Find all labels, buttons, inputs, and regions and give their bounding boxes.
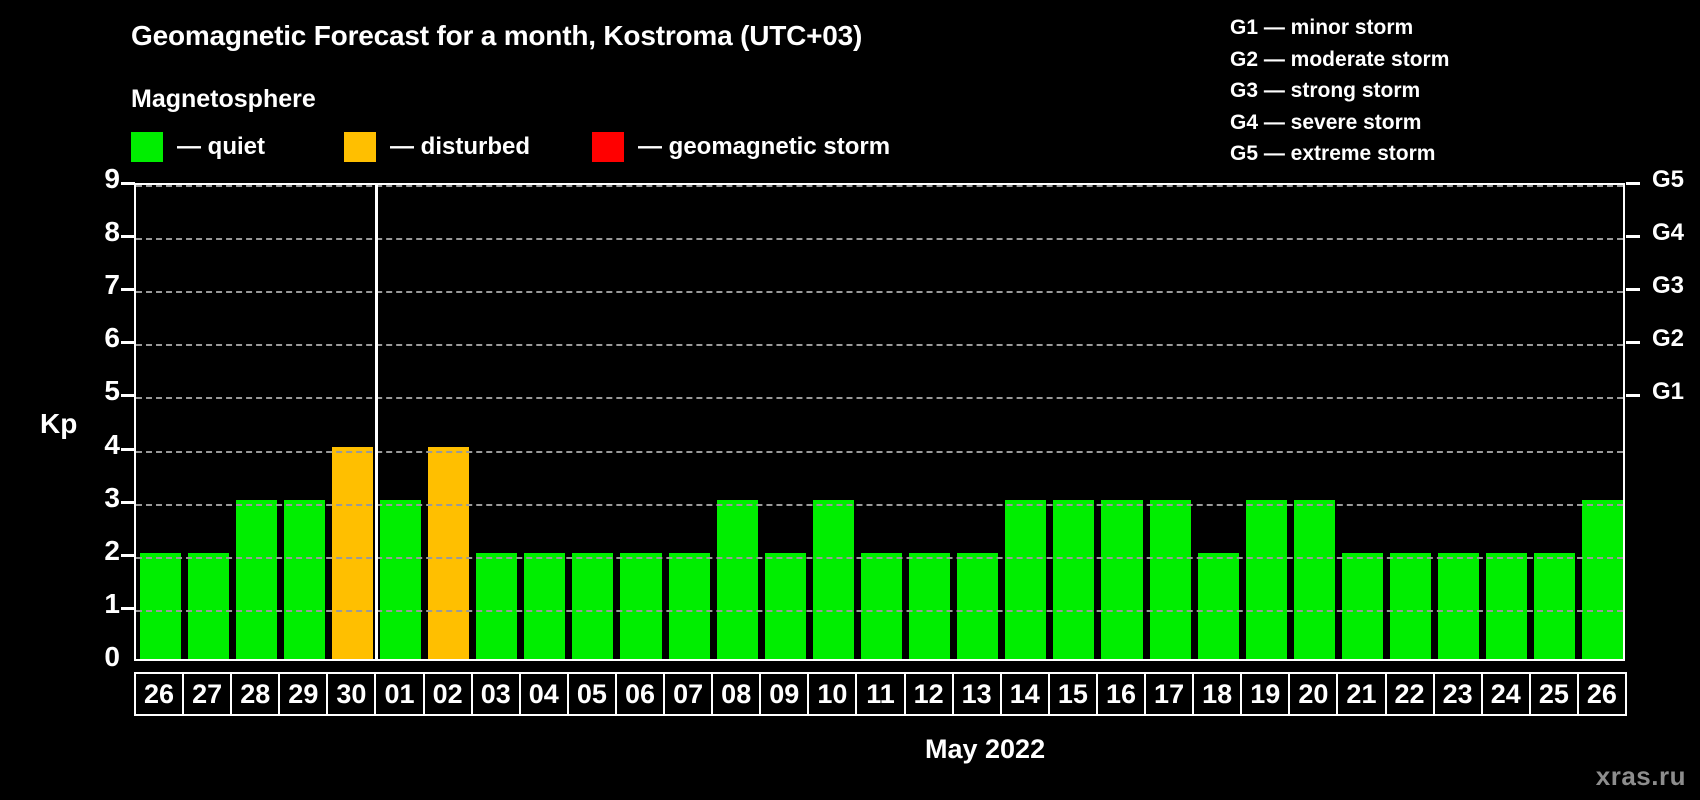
x-axis-day-25: 25 bbox=[1529, 672, 1579, 716]
bar-day-18 bbox=[1198, 553, 1239, 659]
bar-series bbox=[136, 185, 1623, 659]
y-tick-mark-1 bbox=[121, 607, 135, 610]
y-tick-mark-3 bbox=[121, 501, 135, 504]
bar-day-23 bbox=[1438, 553, 1479, 659]
y-tick-mark-2 bbox=[121, 554, 135, 557]
g-tick-mark-G2 bbox=[1626, 341, 1640, 344]
bar-day-07 bbox=[669, 553, 710, 659]
g-scale-row-2: G2 — moderate storm bbox=[1230, 44, 1449, 76]
x-axis-day-17: 17 bbox=[1144, 672, 1194, 716]
bar-day-15 bbox=[1053, 500, 1094, 659]
bar-day-12 bbox=[909, 553, 950, 659]
y-tick-mark-9 bbox=[121, 182, 135, 185]
bar-day-21 bbox=[1342, 553, 1383, 659]
gridline-kp-1 bbox=[136, 610, 1623, 612]
y-tick-label-0: 0 bbox=[80, 641, 120, 673]
bar-day-30 bbox=[332, 447, 373, 659]
g-scale-row-1: G1 — minor storm bbox=[1230, 12, 1449, 44]
x-axis-title: May 2022 bbox=[925, 734, 1045, 765]
legend-label: — quiet bbox=[177, 133, 265, 161]
bar-day-02 bbox=[428, 447, 469, 659]
x-axis-day-23: 23 bbox=[1433, 672, 1483, 716]
x-axis-day-03: 03 bbox=[471, 672, 521, 716]
x-axis-day-01: 01 bbox=[374, 672, 424, 716]
bar-day-24 bbox=[1486, 553, 1527, 659]
bar-day-04 bbox=[524, 553, 565, 659]
x-axis-day-04: 04 bbox=[519, 672, 569, 716]
legend-label: — geomagnetic storm bbox=[638, 133, 890, 161]
x-axis-day-28: 28 bbox=[230, 672, 280, 716]
y-tick-label-5: 5 bbox=[80, 375, 120, 407]
g-tick-label-G3: G3 bbox=[1652, 272, 1684, 300]
x-axis-day-21: 21 bbox=[1336, 672, 1386, 716]
gridline-kp-2 bbox=[136, 557, 1623, 559]
bar-day-13 bbox=[957, 553, 998, 659]
x-axis-day-29: 29 bbox=[278, 672, 328, 716]
plot-area bbox=[134, 183, 1625, 661]
bar-day-10 bbox=[813, 500, 854, 659]
g-scale-row-4: G4 — severe storm bbox=[1230, 107, 1449, 139]
gridline-kp-9 bbox=[136, 185, 1623, 187]
y-tick-label-3: 3 bbox=[80, 482, 120, 514]
x-axis-day-26: 26 bbox=[1577, 672, 1627, 716]
x-axis-day-11: 11 bbox=[855, 672, 905, 716]
bar-day-20 bbox=[1294, 500, 1335, 659]
bar-day-08 bbox=[717, 500, 758, 659]
gridline-kp-3 bbox=[136, 504, 1623, 506]
x-axis-day-02: 02 bbox=[423, 672, 473, 716]
legend-item-geomagnetic-storm: — geomagnetic storm bbox=[592, 132, 890, 162]
x-axis-day-30: 30 bbox=[326, 672, 376, 716]
bar-day-03 bbox=[476, 553, 517, 659]
page-title: Geomagnetic Forecast for a month, Kostro… bbox=[131, 20, 862, 52]
legend-item-disturbed: — disturbed bbox=[344, 132, 530, 162]
bar-day-17 bbox=[1150, 500, 1191, 659]
y-tick-label-4: 4 bbox=[80, 429, 120, 461]
g-tick-label-G4: G4 bbox=[1652, 219, 1684, 247]
x-axis-day-13: 13 bbox=[952, 672, 1002, 716]
g-scale-row-5: G5 — extreme storm bbox=[1230, 138, 1449, 170]
g-tick-label-G1: G1 bbox=[1652, 378, 1684, 406]
y-tick-mark-5 bbox=[121, 394, 135, 397]
x-axis-day-15: 15 bbox=[1048, 672, 1098, 716]
gridline-kp-8 bbox=[136, 238, 1623, 240]
bar-day-01 bbox=[380, 500, 421, 659]
bar-day-09 bbox=[765, 553, 806, 659]
g-tick-label-G2: G2 bbox=[1652, 325, 1684, 353]
x-axis-day-20: 20 bbox=[1288, 672, 1338, 716]
storm-swatch bbox=[592, 132, 624, 162]
x-axis-day-24: 24 bbox=[1481, 672, 1531, 716]
bar-day-06 bbox=[620, 553, 661, 659]
y-tick-label-1: 1 bbox=[80, 588, 120, 620]
x-axis-day-10: 10 bbox=[807, 672, 857, 716]
x-axis-day-09: 09 bbox=[759, 672, 809, 716]
x-axis-day-22: 22 bbox=[1385, 672, 1435, 716]
month-divider-line bbox=[375, 183, 378, 661]
chart-page: Geomagnetic Forecast for a month, Kostro… bbox=[0, 0, 1700, 800]
g-tick-mark-G3 bbox=[1626, 288, 1640, 291]
g-scale-legend: G1 — minor stormG2 — moderate stormG3 — … bbox=[1230, 12, 1449, 170]
legend-label: — disturbed bbox=[390, 133, 530, 161]
g-tick-label-G5: G5 bbox=[1652, 166, 1684, 194]
bar-day-27 bbox=[188, 553, 229, 659]
bar-day-26 bbox=[1582, 500, 1623, 659]
x-axis-day-27: 27 bbox=[182, 672, 232, 716]
g-tick-mark-G1 bbox=[1626, 394, 1640, 397]
g-tick-mark-G4 bbox=[1626, 235, 1640, 238]
y-tick-mark-6 bbox=[121, 341, 135, 344]
x-axis-day-26: 26 bbox=[134, 672, 184, 716]
disturbed-swatch bbox=[344, 132, 376, 162]
x-axis-day-12: 12 bbox=[904, 672, 954, 716]
x-axis-day-19: 19 bbox=[1240, 672, 1290, 716]
bar-day-19 bbox=[1246, 500, 1287, 659]
x-axis-day-06: 06 bbox=[615, 672, 665, 716]
x-axis-day-08: 08 bbox=[711, 672, 761, 716]
y-tick-mark-8 bbox=[121, 235, 135, 238]
watermark: xras.ru bbox=[1596, 761, 1686, 792]
gridline-kp-7 bbox=[136, 291, 1623, 293]
x-axis-day-05: 05 bbox=[567, 672, 617, 716]
y-tick-label-7: 7 bbox=[80, 269, 120, 301]
chart-subtitle: Magnetosphere bbox=[131, 85, 316, 114]
bar-day-28 bbox=[236, 500, 277, 659]
x-axis-day-16: 16 bbox=[1096, 672, 1146, 716]
bar-day-16 bbox=[1101, 500, 1142, 659]
bar-day-25 bbox=[1534, 553, 1575, 659]
y-axis-title: Kp bbox=[40, 408, 77, 440]
y-tick-label-8: 8 bbox=[80, 216, 120, 248]
g-tick-mark-G5 bbox=[1626, 182, 1640, 185]
gridline-kp-4 bbox=[136, 451, 1623, 453]
quiet-swatch bbox=[131, 132, 163, 162]
x-axis-day-07: 07 bbox=[663, 672, 713, 716]
y-tick-mark-4 bbox=[121, 448, 135, 451]
y-tick-mark-7 bbox=[121, 288, 135, 291]
legend-item-quiet: — quiet bbox=[131, 132, 265, 162]
bar-day-29 bbox=[284, 500, 325, 659]
bar-day-26 bbox=[140, 553, 181, 659]
x-axis-day-18: 18 bbox=[1192, 672, 1242, 716]
y-tick-label-6: 6 bbox=[80, 322, 120, 354]
bar-day-05 bbox=[572, 553, 613, 659]
gridline-kp-5 bbox=[136, 397, 1623, 399]
y-tick-label-9: 9 bbox=[80, 163, 120, 195]
bar-day-22 bbox=[1390, 553, 1431, 659]
y-tick-label-2: 2 bbox=[80, 535, 120, 567]
g-scale-row-3: G3 — strong storm bbox=[1230, 75, 1449, 107]
bar-day-14 bbox=[1005, 500, 1046, 659]
x-axis-day-14: 14 bbox=[1000, 672, 1050, 716]
gridline-kp-6 bbox=[136, 344, 1623, 346]
bar-day-11 bbox=[861, 553, 902, 659]
